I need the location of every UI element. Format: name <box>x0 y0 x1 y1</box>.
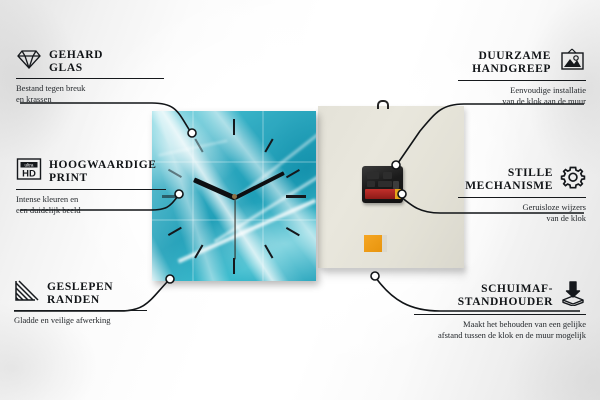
feature-schuimaf-standhouder: SCHUIMAF-STANDHOUDER Maakt het behouden … <box>414 280 586 340</box>
feature-rule <box>458 197 586 198</box>
diamond-icon <box>16 48 42 75</box>
battery <box>365 189 396 199</box>
tick-6 <box>233 258 235 274</box>
feature-title: DUURZAMEHANDGREEP <box>472 50 551 75</box>
ultra-hd-icon: ultra HD <box>16 157 42 186</box>
picture-frame-icon <box>558 48 586 77</box>
down-arrow-pad-icon <box>560 280 586 311</box>
feature-hoogwaardige-print: ultra HD HOOGWAARDIGEPRINT Intense kleur… <box>16 157 168 215</box>
feature-title: HOOGWAARDIGEPRINT <box>49 159 157 184</box>
feature-description: Bestand tegen breuken krassen <box>16 83 166 104</box>
beveled-edge-icon <box>14 280 40 307</box>
svg-text:HD: HD <box>22 169 36 180</box>
second-hand <box>234 198 235 260</box>
feature-description: Intense kleuren eneen duidelijk beeld <box>16 194 168 215</box>
feature-rule <box>14 310 147 311</box>
product-photo <box>148 104 464 282</box>
feature-rule <box>16 189 166 190</box>
feature-description: Gladde en veilige afwerking <box>14 315 149 326</box>
feature-title: STILLEMECHANISME <box>465 167 553 192</box>
clock-hub <box>232 194 237 199</box>
gear-icon <box>560 165 586 194</box>
feature-rule <box>16 78 164 79</box>
feature-title: SCHUIMAF-STANDHOUDER <box>458 283 553 308</box>
foam-spacer-side <box>382 235 387 252</box>
wall-panel-shadow <box>324 268 466 280</box>
feature-title: GESLEPENRANDEN <box>47 281 113 306</box>
tick-12 <box>233 119 235 135</box>
feature-duurzame-handgreep: DUURZAMEHANDGREEP Eenvoudige installatie… <box>458 48 586 106</box>
feature-description: Geruisloze wijzersvan de klok <box>458 202 586 223</box>
foam-spacer <box>364 235 382 252</box>
feature-title: GEHARDGLAS <box>49 49 103 74</box>
feature-description: Eenvoudige installatievan de klok aan de… <box>458 85 586 106</box>
battery-positive-terminal <box>395 189 401 199</box>
glass-clock <box>152 111 316 281</box>
svg-text:ultra: ultra <box>25 163 34 168</box>
feature-rule <box>414 314 586 315</box>
feature-stille-mechanisme: STILLEMECHANISME Geruisloze wijzersvan d… <box>458 165 586 223</box>
feature-gehard-glas: GEHARDGLAS Bestand tegen breuken krassen <box>16 48 166 104</box>
feature-geslepen-randen: GESLEPENRANDEN Gladde en veilige afwerki… <box>14 280 149 326</box>
mechanism-hook <box>377 100 389 109</box>
feature-rule <box>458 80 586 81</box>
tick-3 <box>286 195 306 198</box>
feature-description: Maakt het behouden van een gelijkeafstan… <box>414 319 586 340</box>
